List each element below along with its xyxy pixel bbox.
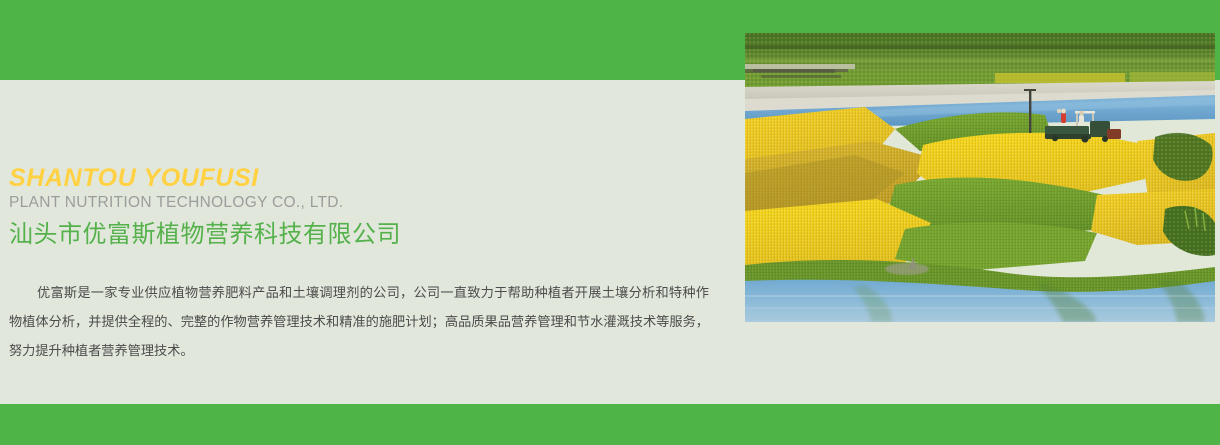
about-paragraph: 优富斯是一家专业供应植物营养肥料产品和土壤调理剂的公司，公司一直致力于帮助种植者…: [9, 278, 709, 365]
content-column: SHANTOU YOUFUSI PLANT NUTRITION TECHNOLO…: [0, 80, 745, 404]
company-tagline-english: PLANT NUTRITION TECHNOLOGY CO., LTD.: [9, 192, 729, 214]
company-name-english: SHANTOU YOUFUSI: [9, 164, 729, 192]
rice-paddy-harvest-photo: [745, 33, 1215, 322]
company-name-chinese: 汕头市优富斯植物营养科技有限公司: [9, 218, 729, 252]
brand-block: SHANTOU YOUFUSI PLANT NUTRITION TECHNOLO…: [9, 164, 729, 252]
bottom-green-band: [0, 404, 1220, 445]
rice-paddy-illustration: [745, 33, 1215, 322]
